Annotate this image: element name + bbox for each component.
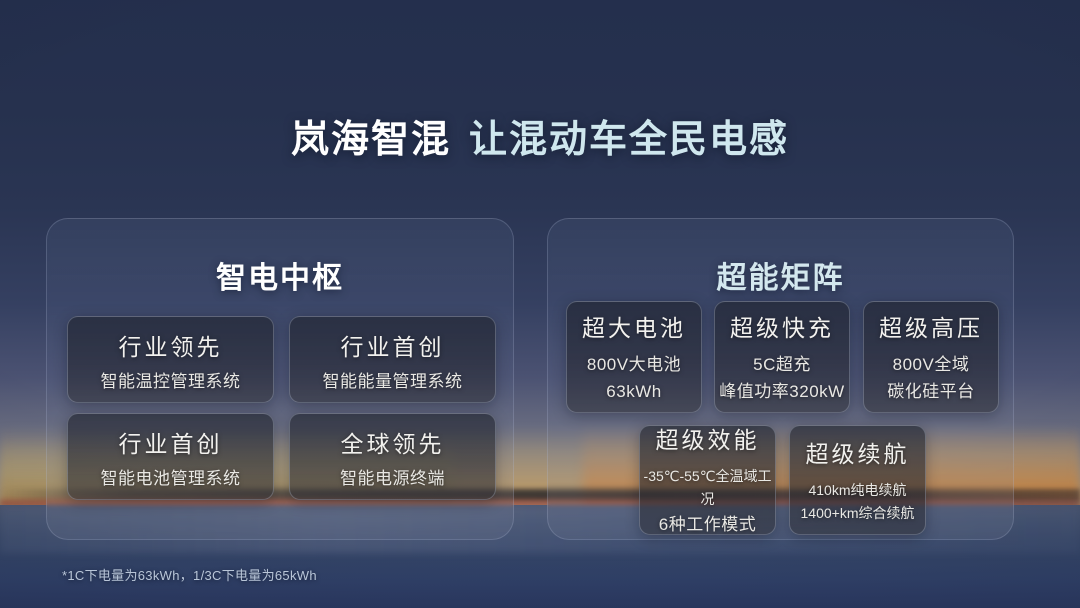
card-title: 超级效能: [656, 421, 760, 455]
card-line: 智能电池管理系统: [101, 464, 241, 489]
card-title: 行业领先: [119, 328, 223, 362]
card-line: 410km纯电续航: [808, 479, 906, 502]
feature-card-battery-management[interactable]: 行业首创 智能电池管理系统: [67, 413, 274, 500]
feature-card-super-efficiency[interactable]: 超级效能 -35℃-55℃全温域工况 6种工作模式: [639, 425, 776, 535]
card-title: 行业首创: [119, 425, 223, 459]
card-title: 超级快充: [730, 309, 834, 343]
feature-card-energy-management[interactable]: 行业首创 智能能量管理系统: [289, 316, 496, 403]
page-title-secondary: 让混动车全民电感: [469, 119, 789, 161]
card-line: 1400+km综合续航: [801, 502, 915, 525]
card-title: 行业首创: [341, 328, 445, 362]
card-line: 6种工作模式: [659, 511, 756, 539]
feature-card-thermal-management[interactable]: 行业领先 智能温控管理系统: [67, 316, 274, 403]
card-line: 智能温控管理系统: [101, 367, 241, 392]
card-line: 5C超充: [753, 352, 811, 378]
card-title: 全球领先: [341, 425, 445, 459]
card-line: -35℃-55℃全温域工况: [640, 465, 775, 511]
panel-super-power-matrix: 超能矩阵 超大电池 800V大电池 63kWh 超级快充 5C超充 峰值功率32…: [547, 218, 1014, 540]
feature-card-fast-charging[interactable]: 超级快充 5C超充 峰值功率320kW: [714, 301, 850, 413]
panel-heading: 超能矩阵: [548, 253, 1013, 297]
feature-card-high-voltage[interactable]: 超级高压 800V全域 碳化硅平台: [863, 301, 999, 413]
card-line: 智能能量管理系统: [323, 367, 463, 392]
footnote-text: *1C下电量为63kWh，1/3C下电量为65kWh: [62, 565, 317, 584]
panel-heading: 智电中枢: [47, 253, 513, 297]
feature-card-super-range[interactable]: 超级续航 410km纯电续航 1400+km综合续航: [789, 425, 926, 535]
card-line: 峰值功率320kW: [719, 379, 844, 405]
card-line: 智能电源终端: [340, 464, 445, 489]
feature-card-power-terminal[interactable]: 全球领先 智能电源终端: [289, 413, 496, 500]
panel-smart-electric-hub: 智电中枢 行业领先 智能温控管理系统 行业首创 智能能量管理系统 行业首创 智能…: [46, 218, 514, 540]
page-title-primary: 岚海智混: [291, 119, 451, 161]
card-line: 碳化硅平台: [887, 379, 975, 405]
card-line: 800V大电池: [587, 352, 681, 378]
card-line: 63kWh: [606, 379, 661, 405]
card-title: 超级续航: [806, 435, 910, 469]
card-title: 超大电池: [582, 309, 686, 343]
feature-card-large-battery[interactable]: 超大电池 800V大电池 63kWh: [566, 301, 702, 413]
card-title: 超级高压: [879, 309, 983, 343]
page-title: 岚海智混让混动车全民电感: [0, 108, 1080, 163]
card-line: 800V全域: [893, 352, 970, 378]
